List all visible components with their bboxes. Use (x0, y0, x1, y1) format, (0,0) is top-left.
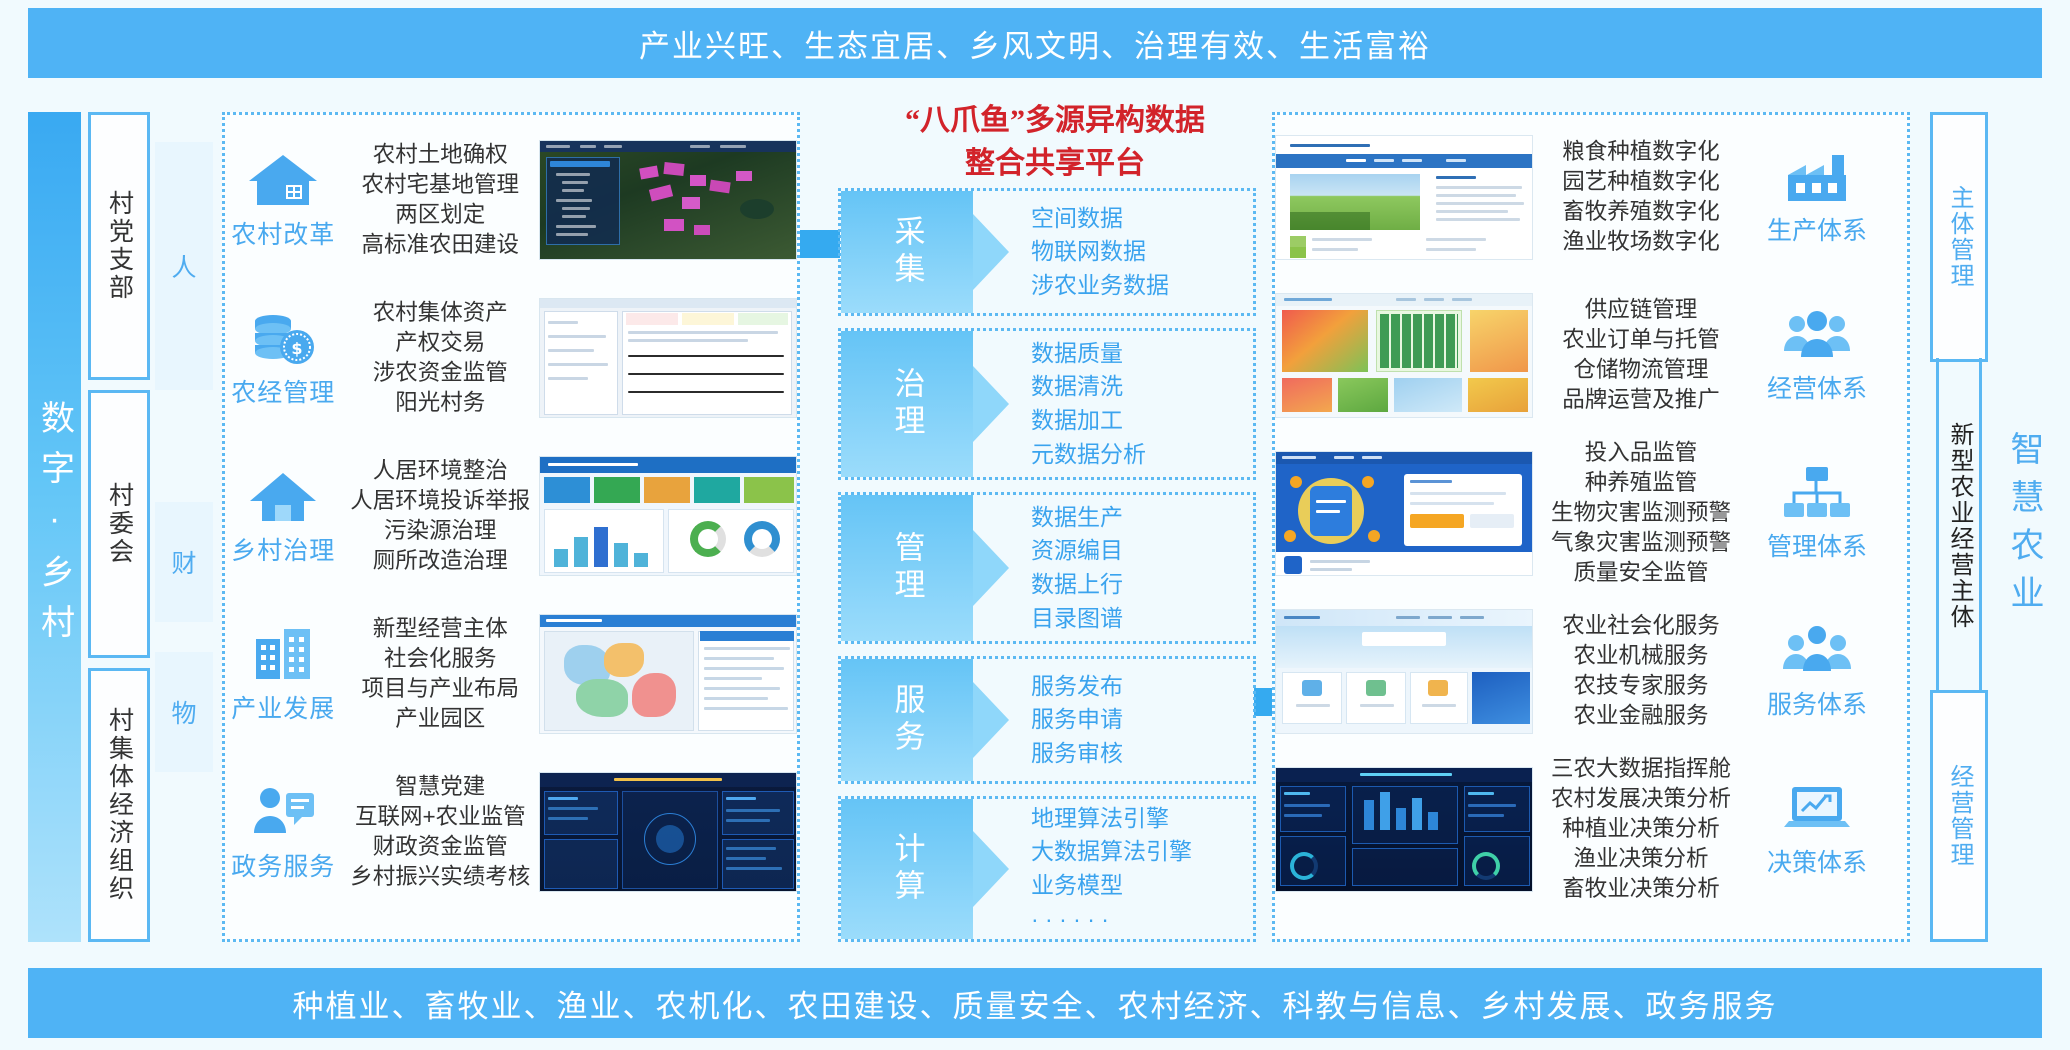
system-icon-block: 服务体系 (1749, 621, 1885, 721)
buildings-industry-icon (246, 623, 320, 685)
center-title: “八爪鱼”多源异构数据 整合共享平台 (855, 100, 1255, 185)
feature-icon-block: 农村改革 (225, 149, 342, 251)
feature-desc: 智慧党建 互联网+农业监管 财政资金监管 乡村振兴实绩考核 (342, 772, 539, 893)
stage-key: 计算 (841, 799, 973, 939)
resource-label-people: 人 (155, 142, 213, 390)
factory-icon (1780, 147, 1854, 207)
system-desc: 粮食种植数字化 园艺种植数字化 畜牧养殖数字化 渔业牧场数字化 (1533, 137, 1749, 258)
top-banner: 产业兴旺、生态宜居、乡风文明、治理有效、生活富裕 (28, 8, 2042, 78)
system-label: 决策体系 (1767, 843, 1867, 879)
bottom-banner: 种植业、畜牧业、渔业、农机化、农田建设、质量安全、农村经济、科教与信息、乡村发展… (28, 968, 2042, 1038)
stage-governance[interactable]: 治理 数据质量 数据清洗 数据加工 元数据分析 (838, 328, 1256, 480)
diagram-root: 产业兴旺、生态宜居、乡风文明、治理有效、生活富裕 数字·乡村 村党支部 村委会 … (0, 0, 2070, 1050)
left-feature-panel: 农村改革 农村土地确权 农村宅基地管理 两区划定 高标准农田建设 (222, 112, 800, 942)
feature-icon-block: 乡村治理 (225, 465, 342, 567)
stage-key: 管理 (841, 495, 973, 641)
person-service-icon (246, 781, 320, 843)
org-unit-column: 村党支部 村委会 村集体经济组织 (88, 112, 150, 942)
feature-row-agri-economy[interactable]: $ 农经管理 农村集体资产 产权交易 涉农资金监管 阳光村务 (225, 283, 797, 433)
stage-key: 采集 (841, 191, 973, 313)
feature-icon-block: $ 农经管理 (225, 307, 342, 409)
resource-text: 财 (171, 544, 196, 580)
system-icon-block: 生产体系 (1749, 147, 1885, 247)
system-row-service[interactable]: 农业社会化服务 农业机械服务 农技专家服务 农业金融服务 服务体系 (1275, 595, 1907, 747)
right-rail-new-agri-subject: 新型农业经营主体 (1930, 372, 1988, 680)
coins-money-icon: $ (246, 307, 320, 369)
resource-column: 人 财 物 (155, 112, 213, 942)
finance-table-screenshot (539, 298, 797, 418)
feature-row-village-governance[interactable]: 乡村治理 人居环境整治 人居环境投诉举报 污染源治理 厕所改造治理 (225, 441, 797, 591)
stage-collect[interactable]: 采集 空间数据 物联网数据 涉农业务数据 (838, 188, 1256, 316)
home-reform-icon (246, 149, 320, 211)
system-row-management[interactable]: 投入品监管 种养殖监管 生物灾害监测预警 气象灾害监测预警 质量安全监管 管理体… (1275, 437, 1907, 589)
center-pipeline: 采集 空间数据 物联网数据 涉农业务数据 治理 数据质量 数据清洗 数据加工 元… (838, 188, 1256, 942)
top-banner-text: 产业兴旺、生态宜居、乡风文明、治理有效、生活富裕 (639, 21, 1431, 66)
org-box-label: 村集体经济组织 (107, 707, 132, 903)
right-box-label: 经营管理 (1947, 764, 1971, 868)
map-parcel-screenshot (539, 140, 797, 260)
feature-icon-block: 政务服务 (225, 781, 342, 883)
feature-desc: 农村土地确权 农村宅基地管理 两区划定 高标准农田建设 (342, 140, 539, 261)
stage-key-label: 服务 (892, 683, 923, 757)
stage-key: 治理 (841, 331, 973, 477)
org-box-label: 村党支部 (107, 190, 132, 302)
right-box-label: 主体管理 (1947, 185, 1971, 289)
decision-bigscreen-screenshot (1275, 767, 1533, 892)
feature-desc: 人居环境整治 人居环境投诉举报 污染源治理 厕所改造治理 (342, 456, 539, 577)
resource-label-finance: 财 (155, 502, 213, 622)
party-bigscreen-screenshot (539, 772, 797, 892)
feature-row-industry-development[interactable]: 产业发展 新型经营主体 社会化服务 项目与产业布局 产业园区 (225, 599, 797, 749)
system-desc: 投入品监管 种养殖监管 生物灾害监测预警 气象灾害监测预警 质量安全监管 (1533, 438, 1749, 589)
resource-text: 物 (171, 694, 196, 730)
system-desc: 供应链管理 农业订单与托管 仓储物流管理 品牌运营及推广 (1533, 295, 1749, 416)
system-row-operation[interactable]: 供应链管理 农业订单与托管 仓储物流管理 品牌运营及推广 经营体系 (1275, 279, 1907, 431)
org-chart-icon (1780, 463, 1854, 523)
system-icon-block: 决策体系 (1749, 779, 1885, 879)
stage-items: 数据质量 数据清洗 数据加工 元数据分析 (973, 331, 1253, 477)
feature-icon-block: 产业发展 (225, 623, 342, 725)
system-icon-block: 管理体系 (1749, 463, 1885, 563)
stage-items: 服务发布 服务申请 服务审核 (973, 659, 1253, 781)
agri-portal-screenshot (1275, 135, 1533, 260)
service-people-icon (1780, 621, 1854, 681)
far-rail-label: 智慧农业 (2007, 431, 2041, 623)
stage-items: 空间数据 物联网数据 涉农业务数据 (973, 191, 1253, 313)
svg-text:$: $ (292, 339, 303, 358)
far-right-rail-smart-agriculture: 智慧农业 (2000, 112, 2048, 942)
feature-label: 乡村治理 (231, 531, 335, 567)
stage-items: 地理算法引擎 大数据算法引擎 业务模型 · · · · · · (973, 799, 1253, 939)
industry-map-screenshot (539, 614, 797, 734)
feature-row-rural-reform[interactable]: 农村改革 农村土地确权 农村宅基地管理 两区划定 高标准农田建设 (225, 125, 797, 275)
feature-desc: 农村集体资产 产权交易 涉农资金监管 阳光村务 (342, 298, 539, 419)
feature-label: 产业发展 (231, 689, 335, 725)
feature-label: 农村改革 (231, 215, 335, 251)
governance-dashboard-screenshot (539, 456, 797, 576)
stage-key-label: 计算 (892, 832, 923, 906)
resource-text: 人 (171, 248, 196, 284)
bottom-banner-text: 种植业、畜牧业、渔业、农机化、农田建设、质量安全、农村经济、科教与信息、乡村发展… (293, 981, 1778, 1026)
service-portal-screenshot (1275, 609, 1533, 734)
stage-key-label: 采集 (892, 215, 923, 289)
stage-items: 数据生产 资源编目 数据上行 目录图谱 (973, 495, 1253, 641)
stage-key-label: 管理 (892, 531, 923, 605)
system-icon-block: 经营体系 (1749, 305, 1885, 405)
system-desc: 三农大数据指挥舱 农村发展决策分析 种植业决策分析 渔业决策分析 畜牧业决策分析 (1533, 754, 1749, 905)
feature-desc: 新型经营主体 社会化服务 项目与产业布局 产业园区 (342, 614, 539, 735)
system-label: 服务体系 (1767, 685, 1867, 721)
system-label: 生产体系 (1767, 211, 1867, 247)
system-label: 管理体系 (1767, 527, 1867, 563)
stage-service[interactable]: 服务 服务发布 服务申请 服务审核 (838, 656, 1256, 784)
system-row-production[interactable]: 粮食种植数字化 园艺种植数字化 畜牧养殖数字化 渔业牧场数字化 生产体系 (1275, 121, 1907, 273)
org-box-label: 村委会 (107, 482, 132, 566)
left-rail: 数字·乡村 (28, 112, 81, 942)
supervision-platform-screenshot (1275, 451, 1533, 576)
right-box-subject-management[interactable]: 主体管理 (1930, 112, 1988, 362)
org-box-village-committee[interactable]: 村委会 (88, 390, 150, 658)
right-box-operation-management[interactable]: 经营管理 (1930, 690, 1988, 942)
stage-management[interactable]: 管理 数据生产 资源编目 数据上行 目录图谱 (838, 492, 1256, 644)
feature-label: 政务服务 (231, 847, 335, 883)
system-desc: 农业社会化服务 农业机械服务 农技专家服务 农业金融服务 (1533, 611, 1749, 732)
resource-label-material: 物 (155, 652, 213, 772)
left-rail-label: 数字·乡村 (38, 400, 72, 654)
laptop-chart-icon (1780, 779, 1854, 839)
right-rail-label: 新型农业经营主体 (1947, 422, 1971, 630)
stage-key-label: 治理 (892, 367, 923, 441)
feature-row-government-service[interactable]: 政务服务 智慧党建 互联网+农业监管 财政资金监管 乡村振兴实绩考核 (225, 757, 797, 907)
produce-ecommerce-screenshot (1275, 293, 1533, 418)
right-system-panel: 粮食种植数字化 园艺种植数字化 畜牧养殖数字化 渔业牧场数字化 生产体系 (1272, 112, 1910, 942)
feature-label: 农经管理 (231, 373, 335, 409)
house-governance-icon (246, 465, 320, 527)
stage-compute[interactable]: 计算 地理算法引擎 大数据算法引擎 业务模型 · · · · · · (838, 796, 1256, 942)
people-group-icon (1780, 305, 1854, 365)
org-box-collective-economy[interactable]: 村集体经济组织 (88, 668, 150, 942)
system-row-decision[interactable]: 三农大数据指挥舱 农村发展决策分析 种植业决策分析 渔业决策分析 畜牧业决策分析… (1275, 753, 1907, 905)
stage-connector-stub (800, 230, 840, 258)
org-box-village-party-branch[interactable]: 村党支部 (88, 112, 150, 380)
stage-key: 服务 (841, 659, 973, 781)
system-label: 经营体系 (1767, 369, 1867, 405)
